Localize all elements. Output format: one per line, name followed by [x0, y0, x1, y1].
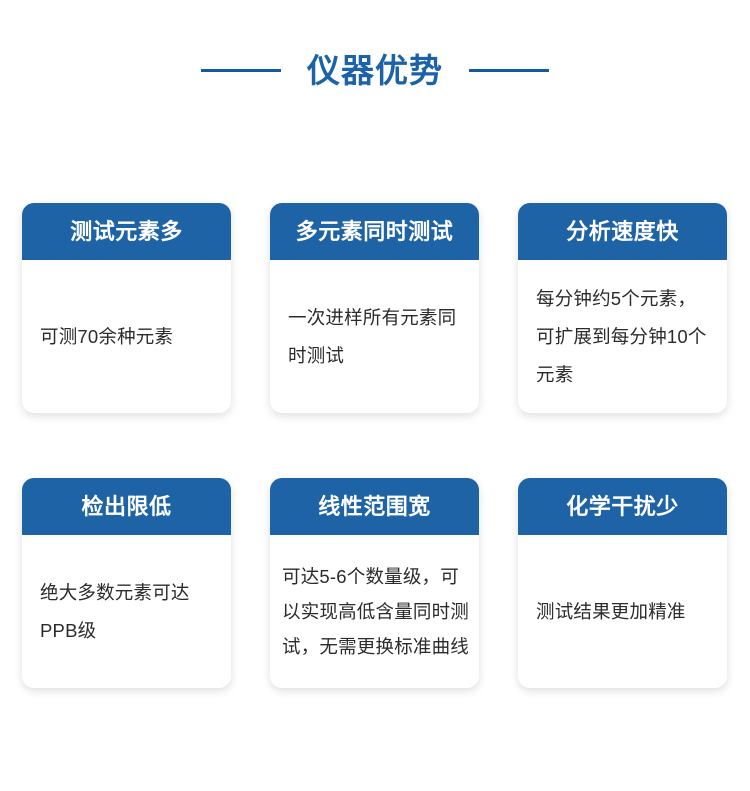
advantage-card-grid: 测试元素多 可测70余种元素 多元素同时测试 一次进样所有元素同时测试 分析速度…: [22, 203, 728, 688]
advantage-card[interactable]: 多元素同时测试 一次进样所有元素同时测试: [270, 203, 479, 413]
advantage-card[interactable]: 检出限低 绝大多数元素可达PPB级: [22, 478, 231, 688]
advantage-card-body: 一次进样所有元素同时测试: [270, 260, 479, 413]
advantage-card-title: 测试元素多: [22, 203, 231, 260]
advantage-card-text: 测试结果更加精准: [536, 593, 711, 631]
title-rule-left: [201, 69, 281, 72]
advantage-card-text: 每分钟约5个元素，可扩展到每分钟10个元素: [536, 280, 711, 394]
advantage-card[interactable]: 线性范围宽 可达5-6个数量级，可以实现高低含量同时测试，无需更换标准曲线: [270, 478, 479, 688]
advantage-card[interactable]: 测试元素多 可测70余种元素: [22, 203, 231, 413]
advantage-card-body: 可达5-6个数量级，可以实现高低含量同时测试，无需更换标准曲线: [270, 535, 479, 688]
advantage-card-body: 每分钟约5个元素，可扩展到每分钟10个元素: [518, 260, 727, 413]
advantage-card-body: 可测70余种元素: [22, 260, 231, 413]
advantage-card[interactable]: 分析速度快 每分钟约5个元素，可扩展到每分钟10个元素: [518, 203, 727, 413]
advantage-card-title: 线性范围宽: [270, 478, 479, 535]
advantage-card-text: 可测70余种元素: [40, 318, 215, 356]
advantage-card-title: 分析速度快: [518, 203, 727, 260]
advantage-card-title: 化学干扰少: [518, 478, 727, 535]
advantage-card-text: 绝大多数元素可达PPB级: [40, 574, 215, 650]
advantage-card[interactable]: 化学干扰少 测试结果更加精准: [518, 478, 727, 688]
advantage-card-title: 多元素同时测试: [270, 203, 479, 260]
advantages-page: 仪器优势 测试元素多 可测70余种元素 多元素同时测试 一次进样所有元素同时测试…: [0, 0, 750, 791]
page-title: 仪器优势: [307, 54, 443, 87]
advantage-card-body: 绝大多数元素可达PPB级: [22, 535, 231, 688]
advantage-card-text: 可达5-6个数量级，可以实现高低含量同时测试，无需更换标准曲线: [282, 559, 469, 664]
advantage-card-body: 测试结果更加精准: [518, 535, 727, 688]
title-rule-right: [469, 69, 549, 72]
advantage-card-title: 检出限低: [22, 478, 231, 535]
advantage-card-text: 一次进样所有元素同时测试: [288, 299, 463, 375]
section-title-row: 仪器优势: [0, 40, 750, 100]
